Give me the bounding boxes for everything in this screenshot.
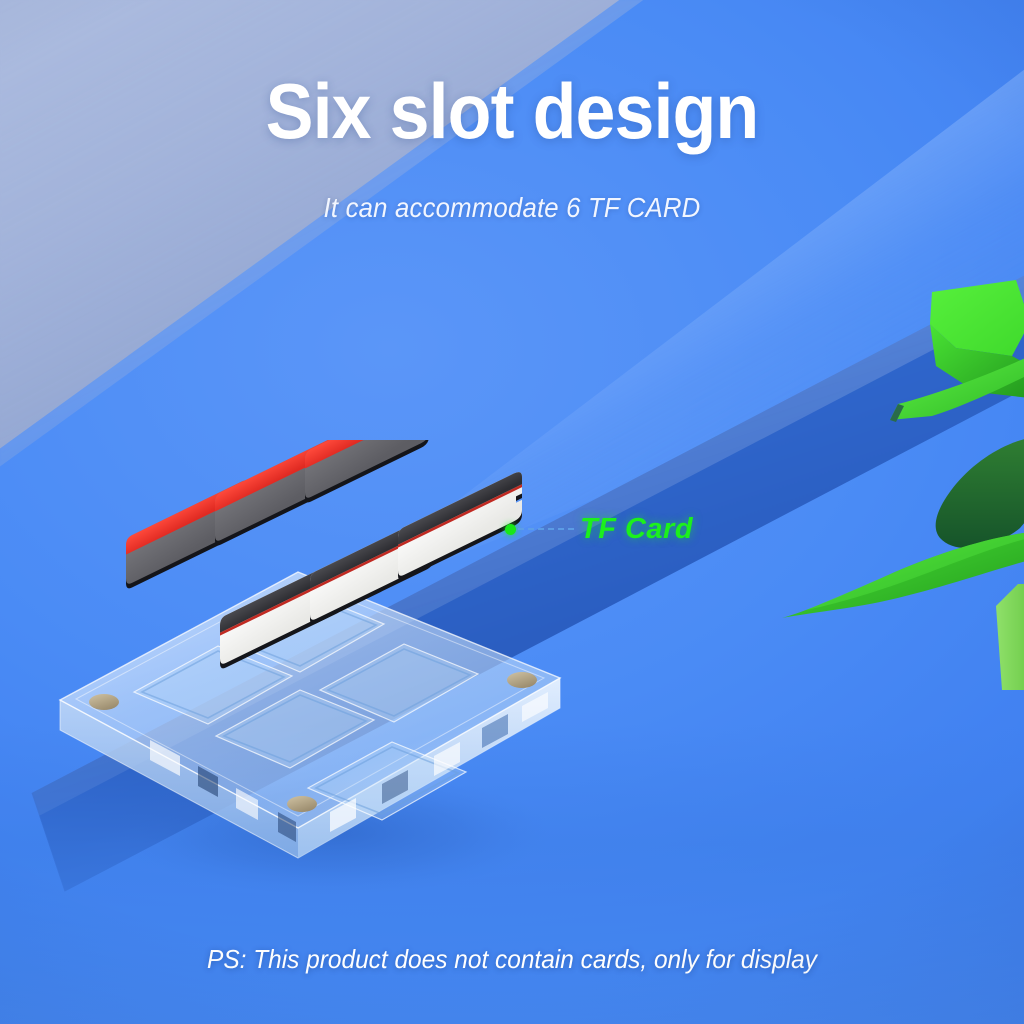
plant-leaf-dark (936, 438, 1024, 548)
headline: Six slot design (41, 72, 983, 150)
callout-leader-line (518, 528, 574, 530)
tf-card-callout: TF Card (505, 516, 693, 542)
tf-card-red-3 (305, 440, 429, 504)
plant-leaf-lower-left (782, 532, 1024, 618)
callout-label: TF Card (580, 513, 693, 546)
callout-dot-icon (505, 524, 516, 535)
disclaimer-text: PS: This product does not contain cards,… (31, 944, 994, 975)
product-illustration (30, 440, 610, 920)
subheadline: It can accommodate 6 TF CARD (41, 192, 983, 224)
plant-leaf-pale (996, 584, 1024, 690)
product-banner: TF Card Six slot design It can accommoda… (0, 0, 1024, 1024)
plant-decoration (780, 270, 1024, 770)
